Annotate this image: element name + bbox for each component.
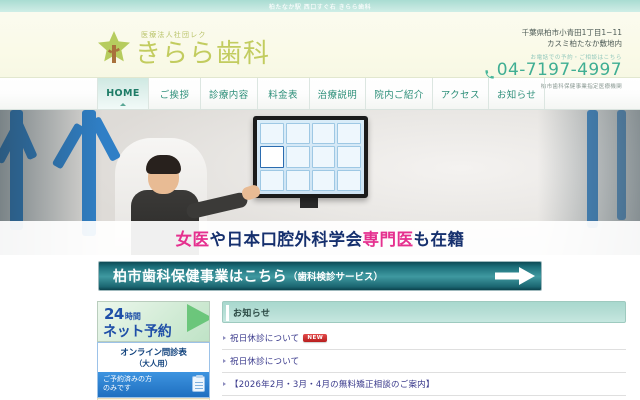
- cta-main-label: 柏市歯科保健事業はこちら: [113, 266, 287, 286]
- site-logo[interactable]: 医療法人社団レク きらら歯科: [97, 29, 270, 67]
- hero-caption-part-4: も在籍: [414, 230, 465, 249]
- hero-caption-part-1: 女医: [176, 230, 210, 249]
- nav-item-treatment-explanation[interactable]: 治療説明: [310, 78, 367, 109]
- sidebar: 24 時間 ネット予約 オンライン問診表 （大人用） ご予約済みの方 のみです: [97, 301, 210, 400]
- news-panel-header: お知らせ: [222, 301, 626, 323]
- news-item-text: 祝日休診について: [230, 355, 299, 367]
- news-list-item[interactable]: 祝日休診について NEW: [222, 327, 626, 350]
- arrow-right-icon: [187, 304, 210, 332]
- hero-caption-part-2: や日本口腔外科学会: [210, 230, 363, 249]
- hero-caption-text: 女医や日本口腔外科学会専門医も在籍: [176, 226, 465, 250]
- page-root: 柏たなか駅 西口すぐ右 きらら歯科 医療法人社団レク きらら歯科 千葉県柏市小青…: [0, 0, 640, 400]
- nav-item-access[interactable]: アクセス: [433, 78, 489, 109]
- news-panel: お知らせ 祝日休診について NEW 祝日休診について 【2026年2月・3月・4…: [222, 301, 640, 400]
- note-line-1: ご予約済みの方: [103, 375, 152, 384]
- main-navigation: HOME ご挨拶 診療内容 料金表 治療説明 院内ご紹介 アクセス お知らせ: [0, 78, 640, 110]
- online-questionnaire-title: オンライン問診表: [100, 346, 207, 358]
- nav-item-home[interactable]: HOME: [97, 78, 149, 109]
- new-badge: NEW: [303, 334, 327, 342]
- nav-item-treatment-content[interactable]: 診療内容: [201, 78, 258, 109]
- clipboard-icon: [192, 376, 205, 392]
- site-header: 医療法人社団レク きらら歯科 千葉県柏市小青田1丁目1−11 カスミ柏たなか敷地…: [0, 12, 640, 78]
- news-item-text: 【2026年2月・3月・4月の無料矯正相談のご案内】: [230, 378, 435, 390]
- online-questionnaire-note: ご予約済みの方 のみです: [98, 372, 209, 397]
- cta-sub-label: （歯科検診サービス）: [288, 269, 383, 283]
- news-panel-title: お知らせ: [233, 306, 270, 319]
- content-area: 24 時間 ネット予約 オンライン問診表 （大人用） ご予約済みの方 のみです: [0, 299, 640, 400]
- nav-item-price-list[interactable]: 料金表: [258, 78, 310, 109]
- online-questionnaire-banner[interactable]: オンライン問診表 （大人用） ご予約済みの方 のみです: [97, 342, 210, 398]
- cta-banner-wrap: 柏市歯科保健事業はこちら （歯科検診サービス）: [0, 255, 640, 299]
- arrow-right-icon: [519, 267, 535, 285]
- nav-item-greeting[interactable]: ご挨拶: [149, 78, 201, 109]
- top-utility-text: 柏たなか駅 西口すぐ右 きらら歯科: [269, 2, 371, 11]
- kashiwa-dental-health-banner[interactable]: 柏市歯科保健事業はこちら （歯科検診サービス）: [98, 261, 542, 291]
- address-line-1: 千葉県柏市小青田1丁目1−11: [484, 28, 622, 39]
- tel-number: 04-7197-4997: [497, 62, 622, 79]
- top-utility-bar: 柏たなか駅 西口すぐ右 きらら歯科: [0, 0, 640, 12]
- note-line-2: のみです: [103, 384, 152, 393]
- hero-caption-part-3: 専門医: [363, 230, 414, 249]
- online-questionnaire-note-text: ご予約済みの方 のみです: [103, 375, 152, 393]
- net-reservation-banner[interactable]: 24 時間 ネット予約: [97, 301, 210, 342]
- tel-row[interactable]: 04-7197-4997: [484, 62, 622, 79]
- online-questionnaire-subtitle: （大人用）: [100, 358, 207, 369]
- brand-text-block: 医療法人社団レク きらら歯科: [135, 30, 270, 67]
- hero-caption: 女医や日本口腔外科学会専門医も在籍: [0, 221, 640, 255]
- news-item-text: 祝日休診について: [230, 332, 299, 344]
- arrow-right-tail: [495, 273, 521, 280]
- news-list-item[interactable]: 【2026年2月・3月・4月の無料矯正相談のご案内】: [222, 373, 626, 396]
- news-list-item[interactable]: 祝日休診について: [222, 350, 626, 373]
- address-line-2: カスミ柏たなか敷地内: [484, 39, 622, 50]
- brand-title: きらら歯科: [135, 41, 270, 67]
- nav-item-news[interactable]: お知らせ: [489, 78, 545, 109]
- phone-icon: [484, 65, 495, 76]
- net-reservation-label: ネット予約: [103, 321, 172, 341]
- hero-banner[interactable]: 女医や日本口腔外科学会専門医も在籍: [0, 110, 640, 255]
- online-questionnaire-head: オンライン問診表 （大人用）: [98, 343, 209, 372]
- star-tree-icon: [97, 29, 131, 67]
- news-list-item[interactable]: 【2026年2月・3月・4月の口腔外科・親知らずの抜歯・相談のご案内】: [222, 396, 626, 400]
- news-list: 祝日休診について NEW 祝日休診について 【2026年2月・3月・4月の無料矯…: [222, 327, 626, 400]
- nav-item-clinic-introduction[interactable]: 院内ご紹介: [366, 78, 433, 109]
